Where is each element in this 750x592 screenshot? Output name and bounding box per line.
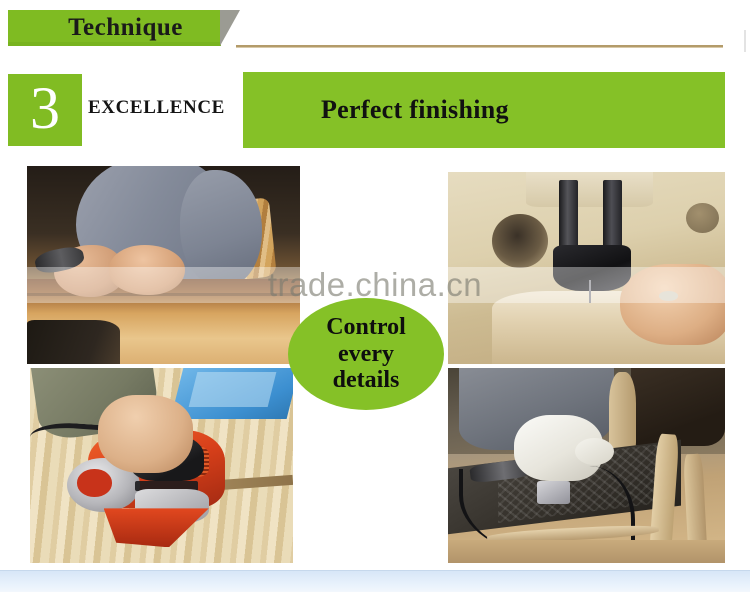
section-header: Technique	[0, 0, 750, 58]
gallery-photo-sewing-machine-needle-closeup	[448, 172, 725, 364]
footer-bar	[0, 570, 750, 592]
callout-text: Control every details	[288, 298, 444, 410]
callout-line-2: every	[338, 341, 394, 368]
header-right-edge-mark	[744, 30, 746, 52]
product-detail-page: Technique 3 EXCELLENCE Perfect finishing	[0, 0, 750, 592]
callout-line-3: details	[333, 367, 400, 394]
technique-tab-label: Technique	[8, 10, 221, 46]
gallery-photo-worker-caning-chair-seat	[448, 368, 725, 563]
headline-banner: Perfect finishing	[243, 72, 725, 148]
gallery-photo-woman-working-at-workbench	[27, 166, 300, 364]
step-number-value: 3	[8, 74, 82, 146]
callout-line-1: Control	[326, 314, 406, 341]
triangle-icon	[220, 10, 240, 46]
step-number-badge: 3	[8, 74, 82, 146]
gallery-photo-mouse-sander-on-plank	[30, 368, 293, 563]
headline-text: Perfect finishing	[321, 72, 509, 148]
header-divider-highlight	[236, 47, 723, 48]
step-label: EXCELLENCE	[88, 97, 225, 119]
